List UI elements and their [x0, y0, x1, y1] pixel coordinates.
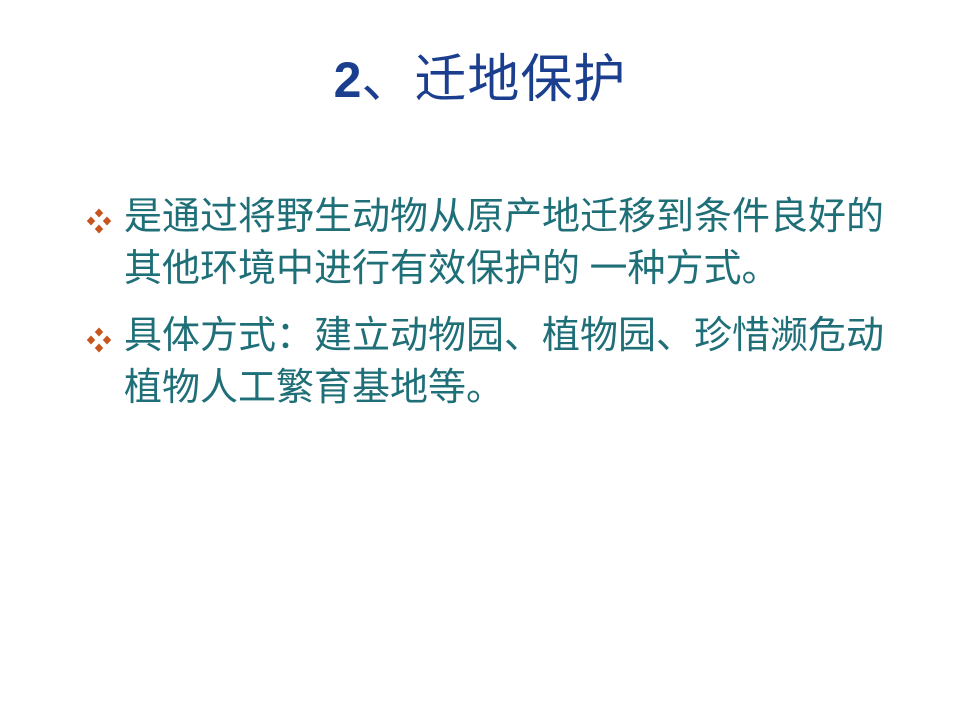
title-label: 、迁地保护 — [361, 52, 626, 109]
slide-title: 2、迁地保护 — [0, 52, 960, 109]
title-number: 2 — [334, 52, 362, 108]
list-item: 具体方式：建立动物园、植物园、珍惜濒危动植物人工繁育基地等。 — [86, 311, 898, 414]
list-item-label: 具体方式：建立动物园、植物园、珍惜濒危动植物人工繁育基地等。 — [124, 315, 884, 409]
list-item: 是通过将野生动物从原产地迁移到条件良好的其他环境中进行有效保护的 一种方式。 — [86, 192, 898, 295]
diamond-cluster-bullet-icon — [86, 208, 112, 234]
slide-canvas: 2、迁地保护 是通过将野生动物从原产地迁移到条件良好的其他环境中进行有效保护的 … — [0, 0, 960, 720]
slide-body-list: 是通过将野生动物从原产地迁移到条件良好的其他环境中进行有效保护的 一种方式。 具… — [86, 192, 898, 415]
diamond-cluster-bullet-icon — [86, 327, 112, 353]
list-item-label: 是通过将野生动物从原产地迁移到条件良好的其他环境中进行有效保护的 一种方式。 — [124, 196, 884, 290]
